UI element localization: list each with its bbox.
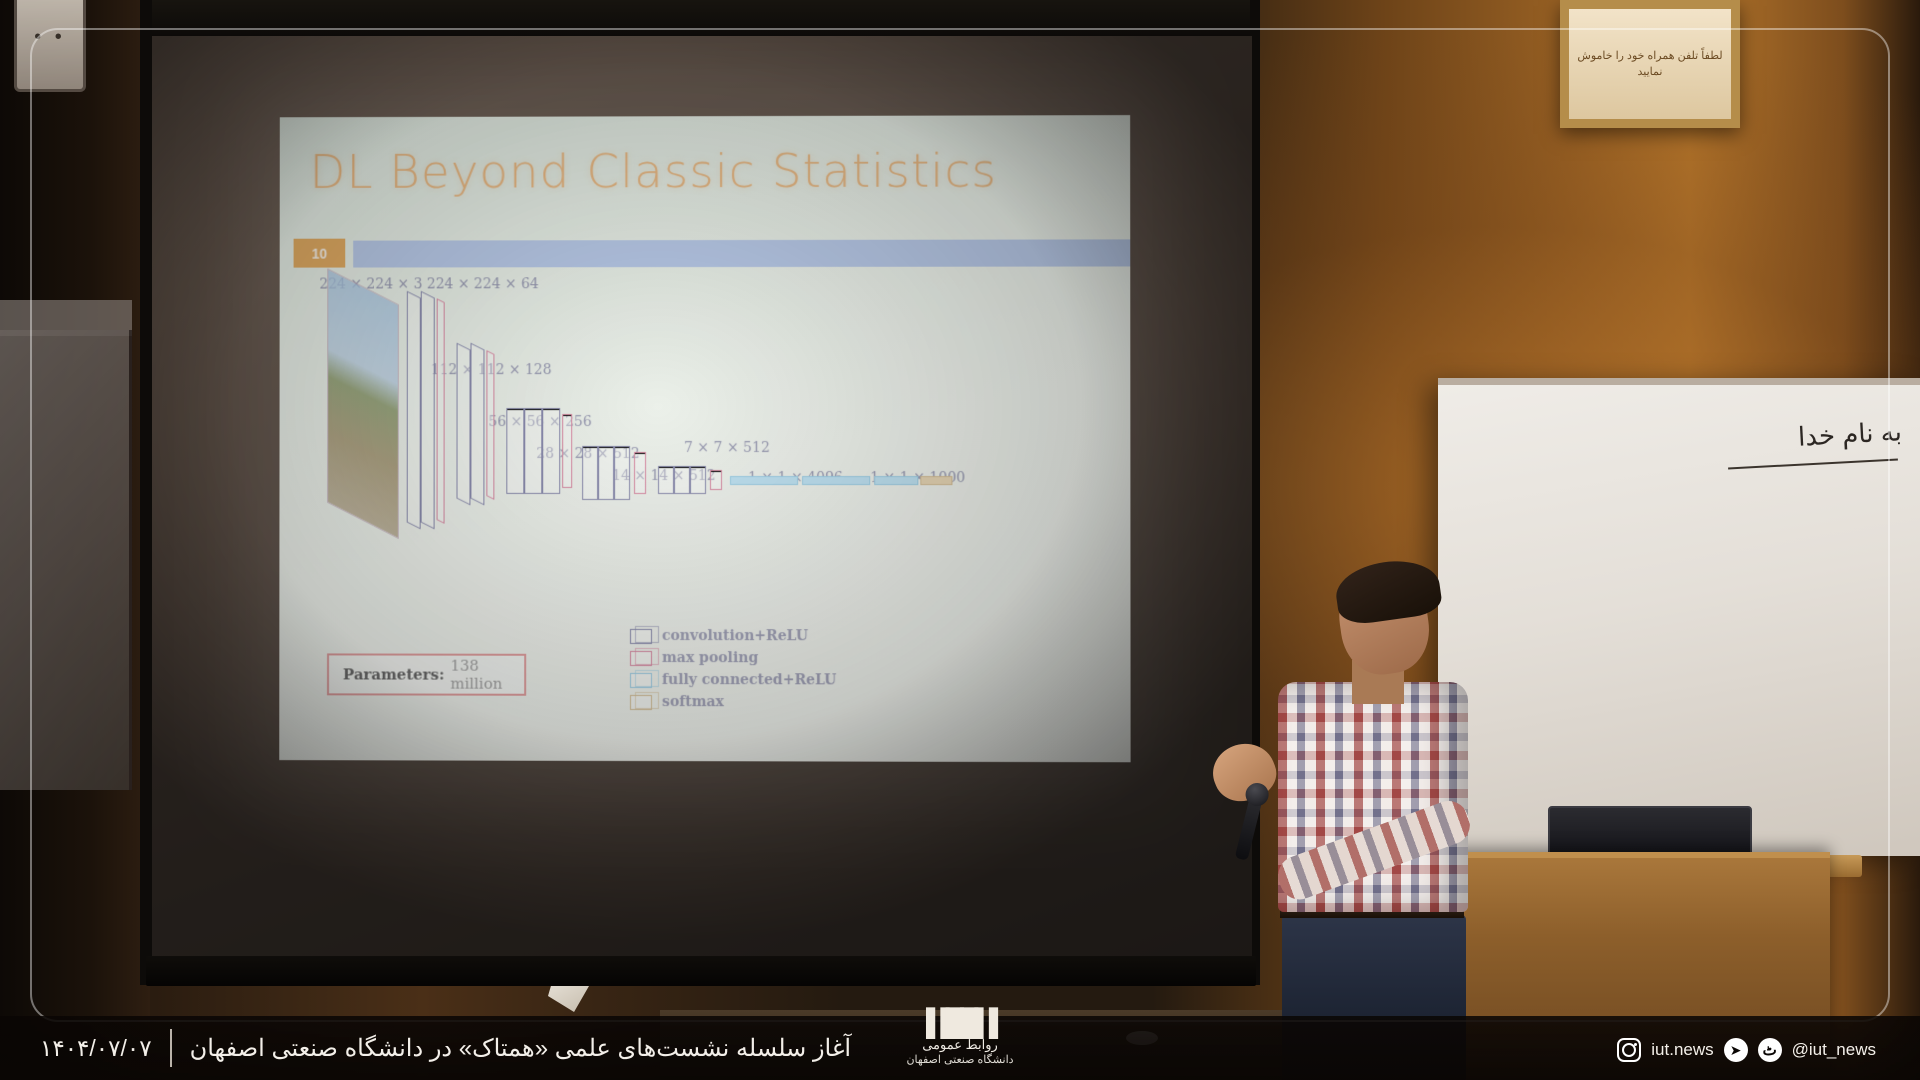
vgg-architecture-figure: 224 × 224 × 3 224 × 224 × 64 112 × 112 ×… bbox=[279, 273, 1130, 695]
whiteboard-underline bbox=[1728, 459, 1898, 470]
projection-screen-bottom-bar bbox=[146, 956, 1256, 986]
telegram-eitaa-handle: @iut_news bbox=[1792, 1040, 1876, 1060]
public-relations-logo: ▐▐██▌▌ روابط عمومی دانشگاه صنعتی اصفهان bbox=[906, 1011, 1013, 1066]
legend-item-maxpooling: max pooling bbox=[630, 648, 836, 668]
eitaa-icon[interactable]: ٹ bbox=[1758, 1038, 1782, 1062]
cube-icon-softmax bbox=[630, 694, 652, 709]
wall-notice-text: لطفاً تلفن همراه خود را خاموش نمایید bbox=[1569, 9, 1731, 119]
conv-cube-3c bbox=[542, 408, 560, 494]
conv-cube-5c bbox=[690, 466, 706, 494]
legend-label-fullyconnected: fully connected+ReLU bbox=[662, 672, 836, 688]
conv-slab-1a bbox=[407, 291, 421, 530]
left-whiteboard bbox=[0, 330, 132, 790]
presenter bbox=[1130, 560, 1550, 1080]
legend-label-softmax: softmax bbox=[662, 694, 724, 710]
logo-line-1: روابط عمومی bbox=[906, 1037, 1013, 1053]
wall-clock: • • bbox=[14, 0, 86, 92]
legend-item-softmax: softmax bbox=[630, 692, 836, 712]
parameters-callout: Parameters: 138 million bbox=[327, 653, 526, 695]
wall-notice-frame: لطفاً تلفن همراه خود را خاموش نمایید bbox=[1560, 0, 1740, 128]
legend-label-maxpooling: max pooling bbox=[662, 650, 758, 666]
fc-bar-2 bbox=[802, 476, 870, 485]
conv-cube-3a bbox=[506, 408, 524, 494]
conv-cube-4b bbox=[598, 446, 614, 500]
whiteboard-handwriting: به نام خدا bbox=[1797, 416, 1902, 452]
presenter-arm bbox=[1273, 795, 1476, 905]
conv-cube-5a bbox=[658, 466, 674, 494]
conv-cube-4a bbox=[582, 446, 598, 500]
banner-date: ۱۴۰۴/۰۷/۰۷ bbox=[40, 1035, 152, 1062]
cube-icon-fullyconnected bbox=[630, 672, 652, 687]
presenter-torso bbox=[1278, 682, 1468, 912]
banner-title: آغاز سلسله نشست‌های علمی «همتاک» در دانش… bbox=[190, 1034, 851, 1063]
telegram-icon[interactable]: ➤ bbox=[1724, 1038, 1748, 1062]
slide-accent-bar bbox=[353, 239, 1130, 267]
pool-cube-3 bbox=[562, 414, 572, 488]
slide-title: DL Beyond Classic Statistics bbox=[310, 143, 997, 199]
legend-label-convolution: convolution+ReLU bbox=[662, 628, 808, 644]
figure-legend: convolution+ReLU max pooling fully conne… bbox=[630, 626, 836, 714]
softmax-bar bbox=[920, 476, 952, 485]
presenter-hand bbox=[1205, 734, 1283, 809]
cube-icon-maxpooling bbox=[630, 650, 652, 665]
projected-slide: DL Beyond Classic Statistics 10 224 × 22… bbox=[279, 115, 1130, 762]
conv-cube-5b bbox=[674, 466, 690, 494]
input-image-slab bbox=[327, 268, 399, 539]
projection-screen-surface: DL Beyond Classic Statistics 10 224 × 22… bbox=[152, 36, 1252, 962]
slide-number-badge: 10 bbox=[294, 239, 346, 268]
pool-cube-4 bbox=[634, 452, 646, 494]
conv-slab-1b bbox=[421, 291, 435, 530]
dim-label-1: 224 × 224 × 64 bbox=[427, 276, 539, 292]
dim-label-6: 7 × 7 × 512 bbox=[684, 440, 770, 456]
bottom-banner: ۱۴۰۴/۰۷/۰۷ آغاز سلسله نشست‌های علمی «همت… bbox=[0, 1016, 1920, 1080]
cube-icon-convolution bbox=[630, 628, 652, 643]
microphone bbox=[1235, 797, 1263, 860]
banner-social-group: iut.news ➤ ٹ @iut_news bbox=[1617, 1038, 1876, 1062]
parameters-value: 138 million bbox=[450, 657, 524, 693]
laptop bbox=[1548, 806, 1752, 858]
slide-header-bar-row: 10 bbox=[280, 237, 1131, 268]
logo-line-2: دانشگاه صنعتی اصفهان bbox=[906, 1053, 1013, 1066]
instagram-icon[interactable] bbox=[1617, 1038, 1641, 1062]
conv-cube-4c bbox=[614, 446, 630, 500]
conv-cube-3b bbox=[524, 408, 542, 494]
instagram-handle: iut.news bbox=[1651, 1040, 1713, 1060]
legend-item-fullyconnected: fully connected+ReLU bbox=[630, 670, 836, 690]
logo-mark-icon: ▐▐██▌▌ bbox=[906, 1011, 1013, 1034]
pool-slab-2 bbox=[486, 350, 494, 500]
parameters-label: Parameters: bbox=[343, 665, 445, 683]
fc-bar-3 bbox=[874, 476, 918, 485]
legend-item-convolution: convolution+ReLU bbox=[630, 626, 836, 646]
banner-left-group: ۱۴۰۴/۰۷/۰۷ آغاز سلسله نشست‌های علمی «همت… bbox=[40, 1029, 851, 1067]
pool-cube-5 bbox=[710, 470, 722, 490]
banner-separator bbox=[170, 1029, 172, 1067]
fc-bar-1 bbox=[730, 476, 798, 485]
pool-slab-1 bbox=[437, 298, 445, 524]
conv-slab-2a bbox=[457, 343, 471, 506]
conv-slab-2b bbox=[470, 343, 484, 506]
